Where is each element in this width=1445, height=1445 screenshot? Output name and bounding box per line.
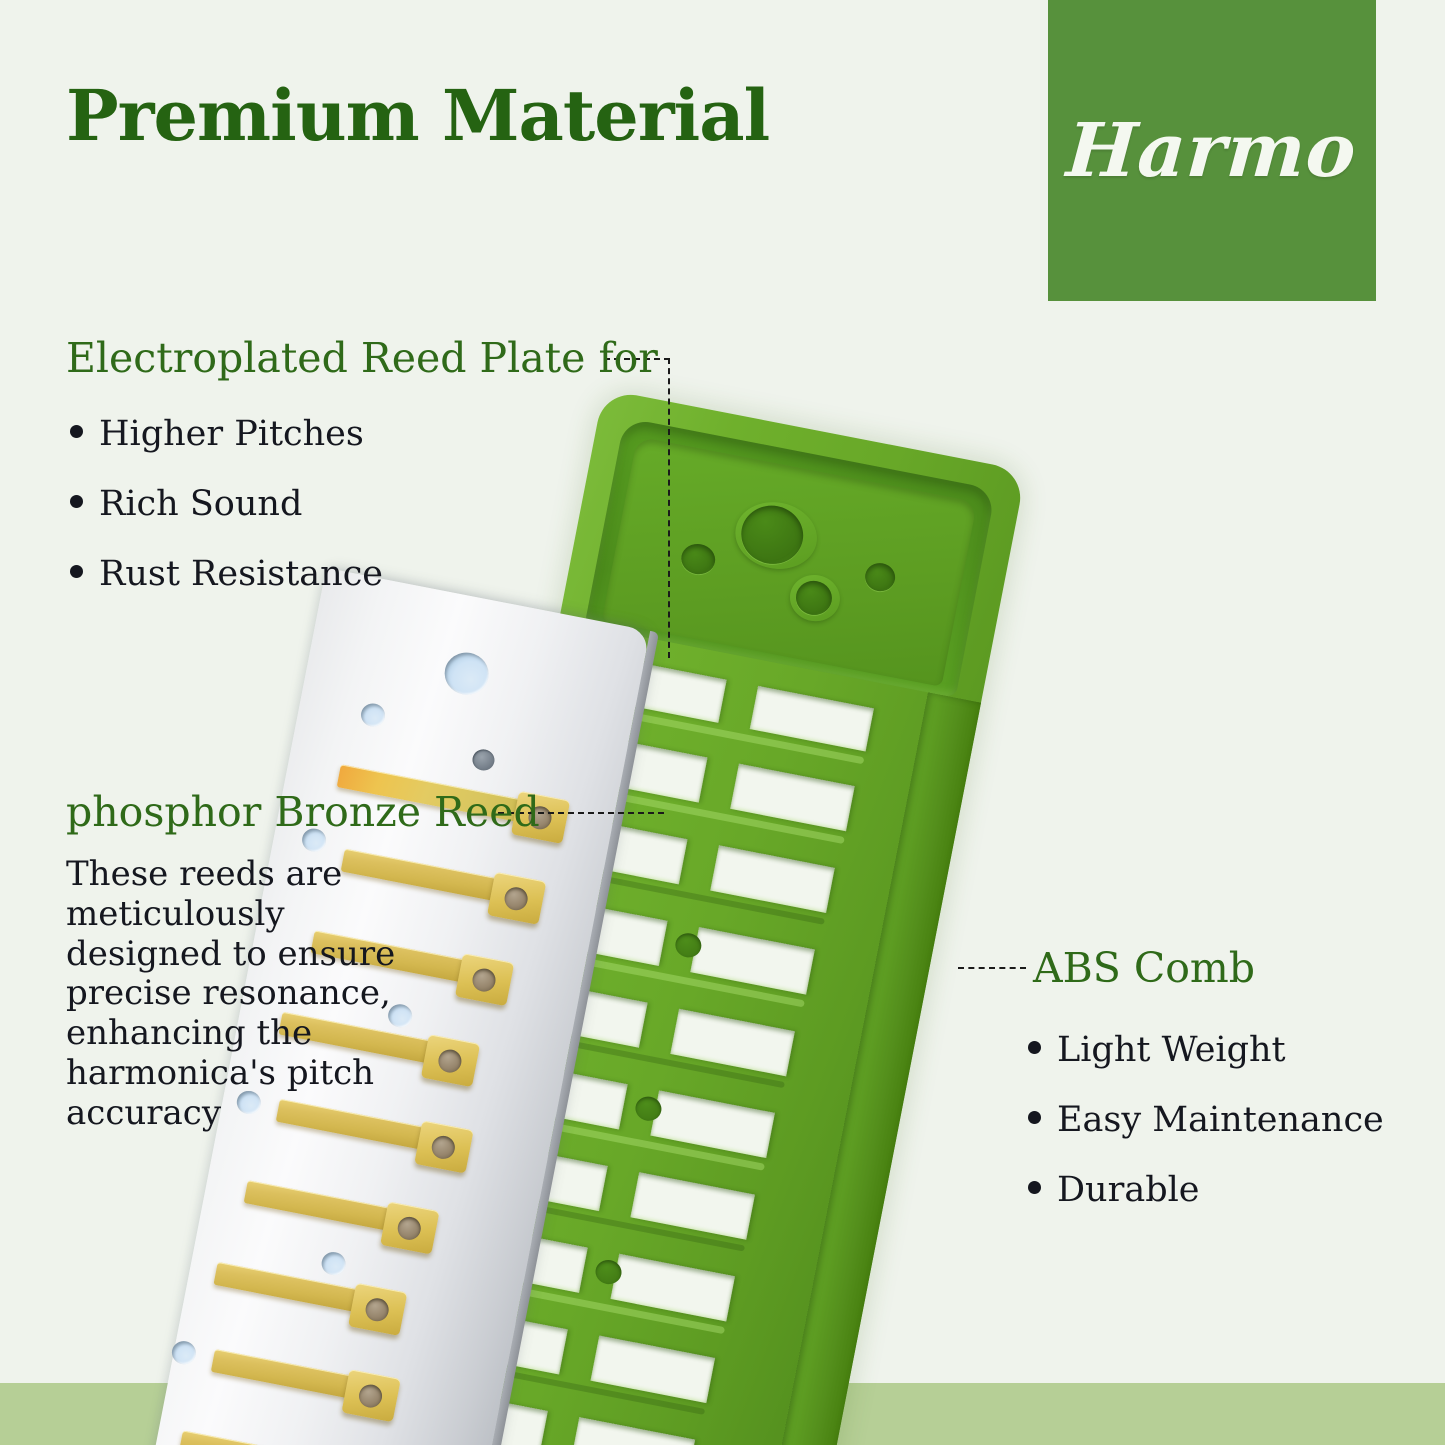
bronze-reed-description: These reeds are meticulously designed to…: [66, 855, 396, 1133]
infographic-canvas: Premium Material Harmo Electroplated Ree…: [0, 0, 1445, 1445]
callout-heading-reed-plate: Electroplated Reed Plate for: [66, 334, 658, 382]
callout-heading-bronze-reed: phosphor Bronze Reed: [66, 788, 540, 836]
list-item-label: Light Weight: [1057, 1030, 1286, 1070]
list-item: Rust Resistance: [70, 554, 383, 594]
list-item-label: Easy Maintenance: [1057, 1100, 1384, 1140]
bullet-dot-icon: [70, 495, 83, 508]
list-item: Rich Sound: [70, 484, 383, 524]
list-item: Higher Pitches: [70, 414, 383, 454]
bullet-dot-icon: [1028, 1181, 1041, 1194]
leader-line-abs-comb: [958, 967, 1026, 969]
page-title: Premium Material: [66, 74, 769, 157]
bullet-list-abs-comb: Light Weight Easy Maintenance Durable: [1028, 1030, 1384, 1240]
list-item-label: Higher Pitches: [99, 414, 364, 454]
list-item-label: Rust Resistance: [99, 554, 383, 594]
bullet-dot-icon: [1028, 1041, 1041, 1054]
logo-wordmark: Harmo: [1064, 108, 1360, 194]
bullet-list-reed-plate: Higher Pitches Rich Sound Rust Resistanc…: [70, 414, 383, 624]
list-item: Easy Maintenance: [1028, 1100, 1384, 1140]
harmo-logo: Harmo: [1048, 0, 1376, 301]
bullet-dot-icon: [70, 425, 83, 438]
bullet-dot-icon: [1028, 1111, 1041, 1124]
list-item: Light Weight: [1028, 1030, 1384, 1070]
list-item: Durable: [1028, 1170, 1384, 1210]
callout-heading-abs-comb: ABS Comb: [1033, 944, 1255, 992]
list-item-label: Durable: [1057, 1170, 1200, 1210]
comb-slot: [571, 1417, 696, 1445]
list-item-label: Rich Sound: [99, 484, 302, 524]
leader-line-reed-plate-vertical: [668, 358, 670, 658]
bullet-dot-icon: [70, 565, 83, 578]
